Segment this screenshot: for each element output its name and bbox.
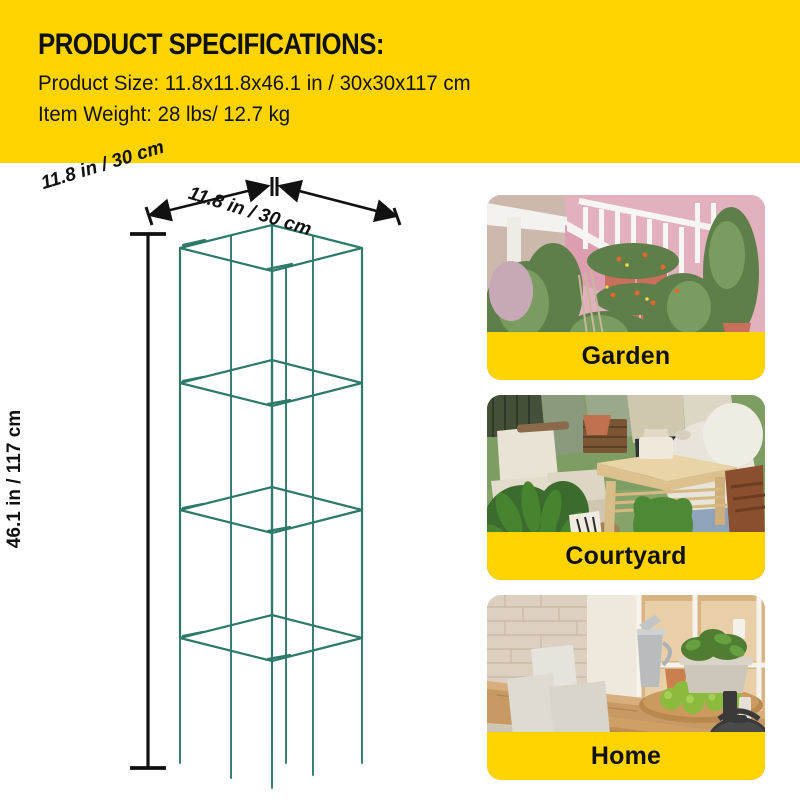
card-caption-garden: Garden: [487, 332, 765, 380]
cage-drawing-svg: [0, 163, 455, 800]
dimension-diagram: 11.8 in / 30 cm 11.8 in / 30 cm 46.1 in …: [0, 163, 455, 800]
scenario-card-courtyard[interactable]: Courtyard: [487, 395, 765, 580]
cage-legs: [180, 225, 362, 788]
spec-item-weight: Item Weight: 28 lbs/ 12.7 kg: [38, 103, 290, 127]
cage-connectors: [183, 240, 292, 659]
scenario-card-garden[interactable]: Garden: [487, 195, 765, 380]
product-spec-infographic: PRODUCT SPECIFICATIONS: Product Size: 11…: [0, 0, 800, 800]
specifications-header-band: PRODUCT SPECIFICATIONS: Product Size: 11…: [0, 0, 800, 163]
height-dimension-line: [130, 234, 166, 768]
application-scenarios: Garden: [470, 168, 790, 793]
cage-structure: [180, 225, 362, 788]
dimension-label-height: 46.1 in / 117 cm: [4, 389, 26, 569]
page-title: PRODUCT SPECIFICATIONS:: [38, 28, 384, 62]
card-caption-courtyard: Courtyard: [487, 532, 765, 580]
spec-product-size: Product Size: 11.8x11.8x46.1 in / 30x30x…: [38, 72, 471, 96]
card-caption-home: Home: [487, 732, 765, 780]
scenario-card-home[interactable]: Home: [487, 595, 765, 780]
